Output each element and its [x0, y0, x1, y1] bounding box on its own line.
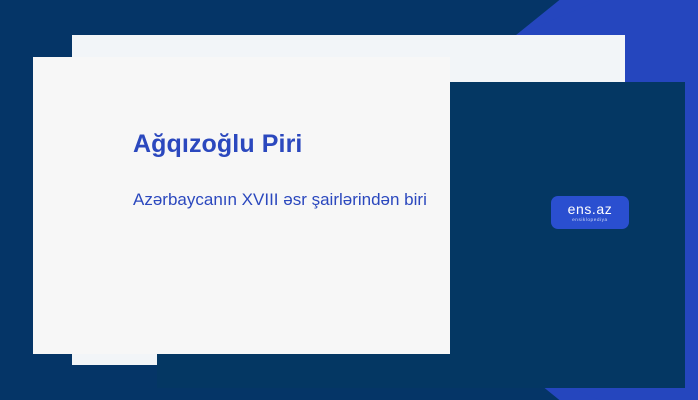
card-text-block: Ağqızoğlu Piri Azərbaycanın XVIII əsr şa…: [133, 129, 433, 215]
page-title: Ağqızoğlu Piri: [133, 129, 433, 159]
logo-tagline: ensiklopediya: [572, 218, 607, 223]
logo-wordmark: ens.az: [568, 202, 613, 216]
page-subtitle: Azərbaycanın XVIII əsr şairlərindən biri: [133, 185, 433, 215]
content-card: Ağqızoğlu Piri Azərbaycanın XVIII əsr şa…: [33, 57, 450, 354]
slide-canvas: Ağqızoğlu Piri Azərbaycanın XVIII əsr şa…: [0, 0, 698, 400]
ensaz-logo-badge[interactable]: ens.az ensiklopediya: [551, 196, 629, 229]
